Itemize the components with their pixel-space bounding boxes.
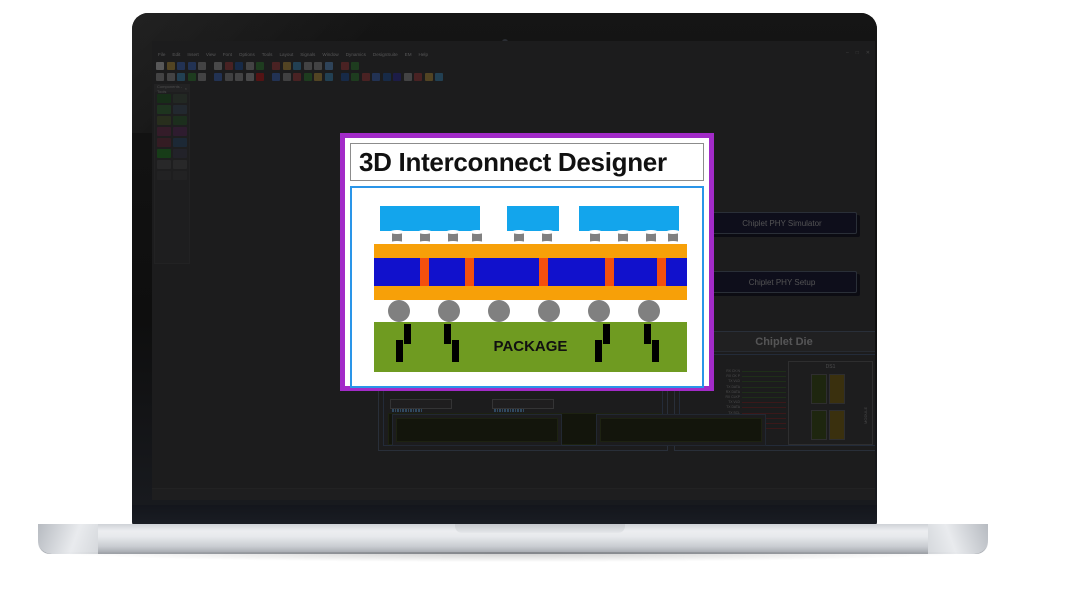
microbump bbox=[668, 231, 678, 244]
microbump bbox=[392, 231, 402, 244]
toolbar-icon-10[interactable] bbox=[272, 73, 280, 81]
toolbar-icon-1[interactable] bbox=[167, 62, 175, 70]
toolbar-icon-13[interactable] bbox=[304, 73, 312, 81]
through-silicon-via bbox=[420, 258, 429, 286]
chiplet-phy-setup-button[interactable]: Chiplet PHY Setup bbox=[707, 271, 857, 293]
menu-item-em[interactable]: EM bbox=[405, 52, 412, 57]
menu-bar[interactable]: FileEditInsertViewFontOptionsToolsLayout… bbox=[154, 50, 875, 59]
close-icon[interactable]: ✕ bbox=[866, 50, 870, 56]
through-silicon-via bbox=[539, 258, 548, 286]
palette-item-12[interactable] bbox=[157, 160, 171, 169]
palette-item-14[interactable] bbox=[157, 171, 171, 180]
toolbar-icon-5[interactable] bbox=[214, 62, 222, 70]
toolbar-icon-9[interactable] bbox=[256, 73, 264, 81]
toolbar-icon-10[interactable] bbox=[272, 62, 280, 70]
toolbar-icon-3[interactable] bbox=[188, 73, 196, 81]
toolbar-primary[interactable] bbox=[156, 60, 875, 71]
window-controls[interactable]: – □ ✕ bbox=[846, 50, 870, 56]
interposer-bottom-rdl bbox=[374, 286, 687, 300]
interconnect-cross-section-diagram[interactable]: PACKAGE bbox=[350, 186, 704, 388]
die-right-submodule-label: DS1 bbox=[789, 364, 872, 370]
chiplet-phy-simulator-button[interactable]: Chiplet PHY Simulator bbox=[707, 212, 857, 234]
c4-solder-bump bbox=[388, 300, 410, 322]
toolbar-icon-3[interactable] bbox=[188, 62, 196, 70]
palette-item-9[interactable] bbox=[173, 138, 187, 147]
toolbar-icon-22[interactable] bbox=[404, 73, 412, 81]
die-right-wire-4 bbox=[742, 392, 786, 393]
palette-item-10[interactable] bbox=[157, 149, 171, 158]
microbump bbox=[420, 231, 430, 244]
protocol-bus-1 bbox=[390, 399, 452, 409]
chiplet-phy-setup-label: Chiplet PHY Setup bbox=[749, 278, 816, 287]
interposer-top-rdl bbox=[374, 244, 687, 258]
toolbar-icon-4[interactable] bbox=[198, 73, 206, 81]
menu-item-window[interactable]: Window bbox=[322, 52, 338, 57]
through-silicon-via bbox=[605, 258, 614, 286]
die-right-module: DS1 MODULE bbox=[788, 361, 873, 445]
palette-item-11[interactable] bbox=[173, 149, 187, 158]
menu-item-file[interactable]: File bbox=[158, 52, 165, 57]
menu-item-options[interactable]: Options bbox=[239, 52, 255, 57]
toolbar-icon-25[interactable] bbox=[435, 73, 443, 81]
toolbar-icon-6[interactable] bbox=[225, 73, 233, 81]
die-right-wire-3 bbox=[742, 387, 786, 388]
toolbar-icon-24[interactable] bbox=[425, 73, 433, 81]
toolbar-icon-7[interactable] bbox=[235, 73, 243, 81]
palette-item-13[interactable] bbox=[173, 160, 187, 169]
palette-item-4[interactable] bbox=[157, 116, 171, 125]
toolbar-icon-19[interactable] bbox=[372, 73, 380, 81]
package-via bbox=[404, 324, 411, 344]
package-via bbox=[396, 340, 403, 362]
components-tools-panel[interactable]: Components - Tools × bbox=[154, 84, 190, 264]
die-right-module-label: MODULE bbox=[863, 407, 868, 424]
protocol-bus-2 bbox=[492, 399, 554, 409]
protocol-extra-pane-left-fill bbox=[396, 418, 558, 442]
toolbar-icon-16[interactable] bbox=[341, 62, 349, 70]
toolbar-icon-9[interactable] bbox=[256, 62, 264, 70]
palette-item-5[interactable] bbox=[173, 116, 187, 125]
chiplet-phy-simulator-label: Chiplet PHY Simulator bbox=[742, 219, 821, 228]
c4-solder-bump bbox=[588, 300, 610, 322]
toolbar-secondary[interactable] bbox=[156, 71, 875, 82]
package-via bbox=[644, 324, 651, 344]
microbump bbox=[646, 231, 656, 244]
microbump bbox=[472, 231, 482, 244]
chiplet-die-1 bbox=[380, 206, 480, 231]
laptop-base-right-edge bbox=[928, 524, 988, 554]
toolbar-icon-6[interactable] bbox=[225, 62, 233, 70]
toolbar-icon-7[interactable] bbox=[235, 62, 243, 70]
toolbar-icon-2[interactable] bbox=[177, 73, 185, 81]
through-silicon-via bbox=[465, 258, 474, 286]
toolbar-icon-5[interactable] bbox=[214, 73, 222, 81]
palette-grid[interactable] bbox=[155, 92, 189, 182]
toolbar-icon-0[interactable] bbox=[156, 73, 164, 81]
c4-solder-bump bbox=[538, 300, 560, 322]
die-right-tx-bar-bottom bbox=[811, 410, 827, 440]
3d-interconnect-designer-dialog[interactable]: 3D Interconnect Designer bbox=[340, 133, 714, 391]
panel-close-icon[interactable]: × bbox=[185, 86, 189, 91]
menu-item-tools[interactable]: Tools bbox=[262, 52, 273, 57]
microbump bbox=[590, 231, 600, 244]
palette-item-7[interactable] bbox=[173, 127, 187, 136]
toolbar-icon-8[interactable] bbox=[246, 73, 254, 81]
menu-item-font[interactable]: Font bbox=[223, 52, 232, 57]
through-silicon-via bbox=[657, 258, 666, 286]
toolbar-icon-17[interactable] bbox=[351, 73, 359, 81]
c4-solder-bump bbox=[638, 300, 660, 322]
c4-solder-bump bbox=[438, 300, 460, 322]
laptop-base-left-edge bbox=[38, 524, 98, 554]
microbump bbox=[514, 231, 524, 244]
toolbar-icon-12[interactable] bbox=[293, 73, 301, 81]
window-titlebar bbox=[152, 41, 875, 50]
die-right-rx-bar-top bbox=[829, 374, 845, 404]
menu-item-help[interactable]: Help bbox=[419, 52, 428, 57]
palette-item-15[interactable] bbox=[173, 171, 187, 180]
toolbar-icon-14[interactable] bbox=[314, 62, 322, 70]
toolbar-icon-13[interactable] bbox=[304, 62, 312, 70]
toolbar-icon-15[interactable] bbox=[325, 62, 333, 70]
die-right-wire-0 bbox=[742, 371, 786, 372]
toolbar-icon-14[interactable] bbox=[314, 73, 322, 81]
toolbar-separator bbox=[335, 62, 338, 70]
package-via bbox=[452, 340, 459, 362]
package-via bbox=[652, 340, 659, 362]
palette-item-6[interactable] bbox=[157, 127, 171, 136]
toolbar-separator bbox=[209, 62, 212, 70]
toolbar-icon-4[interactable] bbox=[198, 62, 206, 70]
toolbar-separator bbox=[209, 73, 212, 81]
toolbar-icon-21[interactable] bbox=[393, 73, 401, 81]
menu-item-edit[interactable]: Edit bbox=[172, 52, 180, 57]
dialog-title: 3D Interconnect Designer bbox=[359, 147, 667, 178]
toolbar-icon-12[interactable] bbox=[293, 62, 301, 70]
chiplet-die-3 bbox=[579, 206, 679, 231]
menu-item-designsuite[interactable]: DesignSuite bbox=[373, 52, 398, 57]
protocol-extra-pane-center-fill bbox=[600, 418, 762, 442]
toolbar-separator bbox=[267, 73, 270, 81]
package-via bbox=[603, 324, 610, 344]
protocol-extra-pane-left bbox=[392, 414, 562, 446]
package-label: PACKAGE bbox=[374, 338, 687, 355]
toolbar-icon-1[interactable] bbox=[167, 73, 175, 81]
menu-item-layout[interactable]: Layout bbox=[279, 52, 293, 57]
menu-item-dynamics[interactable]: Dynamics bbox=[346, 52, 366, 57]
microbump bbox=[618, 231, 628, 244]
panel-title-text: Components - Tools bbox=[157, 84, 185, 94]
toolbar-icon-20[interactable] bbox=[383, 73, 391, 81]
toolbar-icon-18[interactable] bbox=[362, 73, 370, 81]
die-right-wire-5 bbox=[742, 397, 786, 398]
toolbar-icon-8[interactable] bbox=[246, 62, 254, 70]
menu-item-view[interactable]: View bbox=[206, 52, 216, 57]
protocol-extra-pane-center bbox=[596, 414, 766, 446]
package-via bbox=[444, 324, 451, 344]
maximize-icon[interactable]: □ bbox=[856, 50, 859, 56]
screenshot-root: FileEditInsertViewFontOptionsToolsLayout… bbox=[0, 0, 1076, 601]
menu-item-insert[interactable]: Insert bbox=[187, 52, 199, 57]
toolbar-separator bbox=[335, 73, 338, 81]
dialog-title-box: 3D Interconnect Designer bbox=[350, 143, 704, 181]
protocol-pinrow-1 bbox=[392, 409, 422, 412]
palette-item-2[interactable] bbox=[157, 105, 171, 114]
toolbar-icon-11[interactable] bbox=[283, 73, 291, 81]
toolbar-icon-0[interactable] bbox=[156, 62, 164, 70]
die-right-wire-2 bbox=[742, 381, 786, 382]
laptop-front-notch bbox=[455, 524, 625, 533]
microbump bbox=[448, 231, 458, 244]
c4-solder-bump bbox=[488, 300, 510, 322]
microbump bbox=[542, 231, 552, 244]
die-right-wire-6 bbox=[742, 402, 786, 403]
die-right-wire-7 bbox=[742, 407, 786, 408]
die-right-tx-bar-top bbox=[811, 374, 827, 404]
die-right-wire-1 bbox=[742, 376, 786, 377]
protocol-pinrow-2 bbox=[494, 409, 524, 412]
toolbar-icon-17[interactable] bbox=[351, 62, 359, 70]
palette-item-0[interactable] bbox=[157, 94, 171, 103]
toolbar-icon-23[interactable] bbox=[414, 73, 422, 81]
laptop-shadow bbox=[60, 552, 965, 562]
status-bar bbox=[152, 488, 875, 500]
toolbar-separator bbox=[267, 62, 270, 70]
toolbar-icon-16[interactable] bbox=[341, 73, 349, 81]
chiplet-die-2 bbox=[507, 206, 559, 231]
minimize-icon[interactable]: – bbox=[846, 50, 849, 56]
palette-item-8[interactable] bbox=[157, 138, 171, 147]
toolbar-icon-2[interactable] bbox=[177, 62, 185, 70]
die-right-rx-bar-bottom bbox=[829, 410, 845, 440]
palette-item-1[interactable] bbox=[173, 94, 187, 103]
package-substrate: PACKAGE bbox=[374, 322, 687, 372]
palette-item-3[interactable] bbox=[173, 105, 187, 114]
toolbar-icon-11[interactable] bbox=[283, 62, 291, 70]
menu-item-signals[interactable]: Signals bbox=[300, 52, 315, 57]
components-tools-panel-title: Components - Tools × bbox=[155, 85, 189, 92]
toolbar-icon-15[interactable] bbox=[325, 73, 333, 81]
package-via bbox=[595, 340, 602, 362]
